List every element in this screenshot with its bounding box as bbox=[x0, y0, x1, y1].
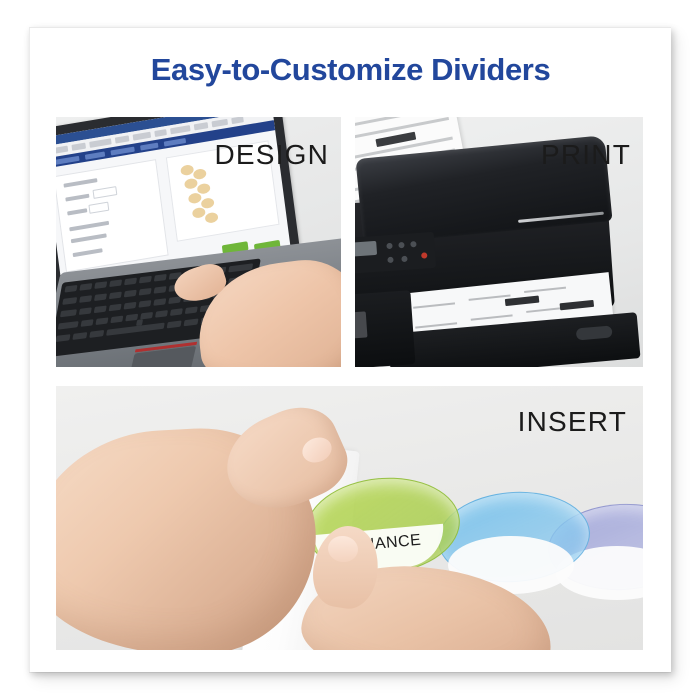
tray-grip bbox=[576, 325, 613, 340]
panel-print: PRINT bbox=[355, 117, 643, 367]
step-label-insert: INSERT bbox=[518, 406, 627, 438]
printer-front-left-panel bbox=[355, 290, 415, 367]
product-card: Easy-to-Customize Dividers bbox=[29, 27, 671, 672]
design-form-pane bbox=[56, 159, 169, 272]
page-title: Easy-to-Customize Dividers bbox=[30, 52, 671, 88]
step-label-design: DESIGN bbox=[214, 139, 329, 171]
laptop-trackpad bbox=[128, 345, 197, 367]
panel-design: DESIGN bbox=[56, 117, 341, 367]
printer-control-panel bbox=[355, 232, 436, 274]
printer-lcd bbox=[355, 241, 377, 257]
product-image-stage: Easy-to-Customize Dividers bbox=[0, 0, 700, 700]
step-label-print: PRINT bbox=[541, 139, 631, 171]
panel-insert: FINANCE INSERT bbox=[56, 386, 643, 650]
printer-card-slot bbox=[355, 311, 368, 338]
